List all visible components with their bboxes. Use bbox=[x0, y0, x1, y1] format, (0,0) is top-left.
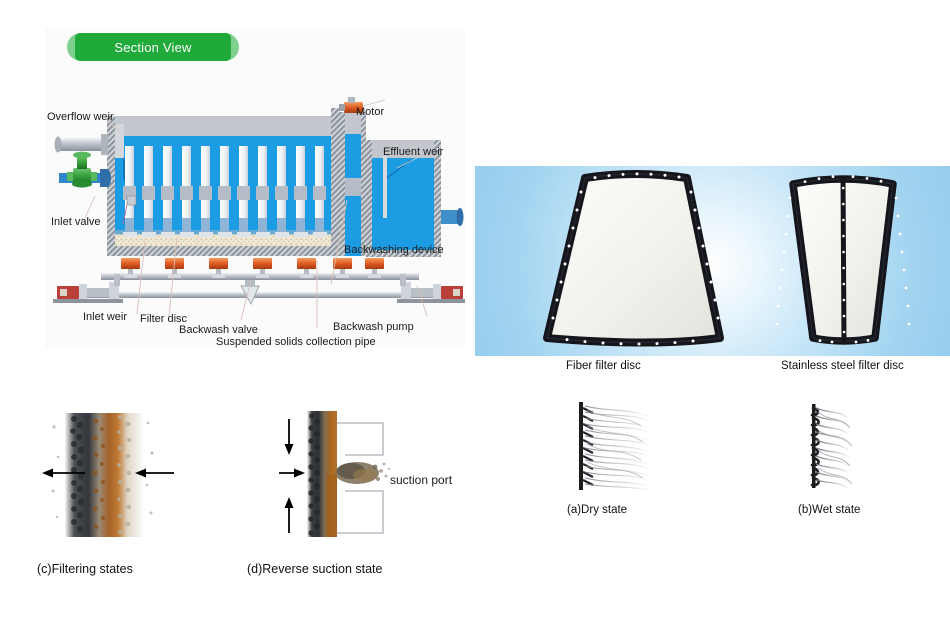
filtering-states-photo bbox=[40, 405, 220, 550]
label-inlet-valve: Inlet valve bbox=[51, 216, 101, 229]
caption-reverse-suction-state: (d)Reverse suction state bbox=[247, 562, 382, 576]
section-view-panel: Section View Overflow weir Motor Effluen… bbox=[45, 28, 465, 348]
filter-disc-photo-panel bbox=[475, 166, 950, 356]
caption-wet-state: (b)Wet state bbox=[798, 504, 860, 516]
label-inlet-weir: Inlet weir bbox=[83, 311, 127, 324]
label-effluent-weir: Effluent weir bbox=[383, 146, 443, 159]
label-backwash-pump: Backwash pump bbox=[333, 321, 414, 334]
caption-filtering-states: (c)Filtering states bbox=[37, 562, 133, 576]
suction-inward-arrow bbox=[279, 469, 305, 478]
label-suction-port: suction port bbox=[390, 473, 452, 487]
caption-stainless-steel-filter-disc: Stainless steel filter disc bbox=[781, 360, 904, 372]
label-overflow-weir: Overflow weir bbox=[47, 111, 114, 124]
caption-fiber-filter-disc: Fiber filter disc bbox=[566, 360, 641, 372]
disc-filter-section-drawing bbox=[45, 28, 465, 348]
section-view-badge: Section View bbox=[67, 33, 239, 61]
section-view-badge-label: Section View bbox=[114, 40, 191, 55]
downward-flow-arrow bbox=[285, 419, 294, 455]
filter-disc-photos bbox=[475, 166, 950, 356]
fiber-filter-disc-photo bbox=[547, 172, 720, 345]
caption-dry-state: (a)Dry state bbox=[567, 504, 627, 516]
wet-state-photo bbox=[800, 396, 890, 496]
stainless-steel-filter-disc-photo bbox=[776, 175, 911, 343]
label-backwashing-device: Backwashing device bbox=[344, 244, 444, 257]
label-suspended-solids-collection-pipe: Suspended solids collection pipe bbox=[216, 336, 376, 349]
label-motor: Motor bbox=[356, 106, 384, 119]
upward-flow-arrow bbox=[285, 497, 294, 533]
dry-state-photo bbox=[565, 396, 675, 496]
